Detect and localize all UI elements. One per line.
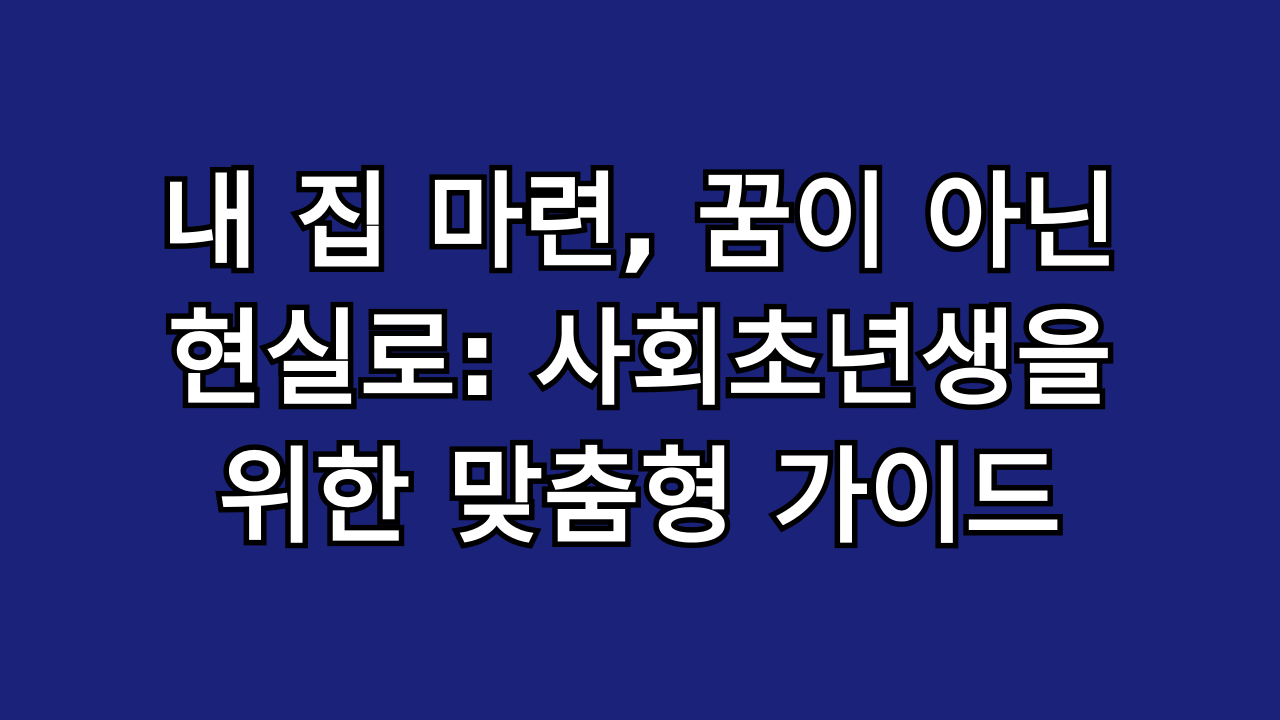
thumbnail-banner: 내 집 마련, 꿈이 아닌 현실로: 사회초년생을 위한 맞춤형 가이드 bbox=[0, 0, 1280, 720]
title-line-2: 현실로: 사회초년생을 bbox=[40, 291, 1240, 428]
title-line-1: 내 집 마련, 꿈이 아닌 bbox=[40, 154, 1240, 291]
page-title: 내 집 마련, 꿈이 아닌 현실로: 사회초년생을 위한 맞춤형 가이드 bbox=[0, 154, 1280, 566]
title-line-3: 위한 맞춤형 가이드 bbox=[40, 429, 1240, 566]
